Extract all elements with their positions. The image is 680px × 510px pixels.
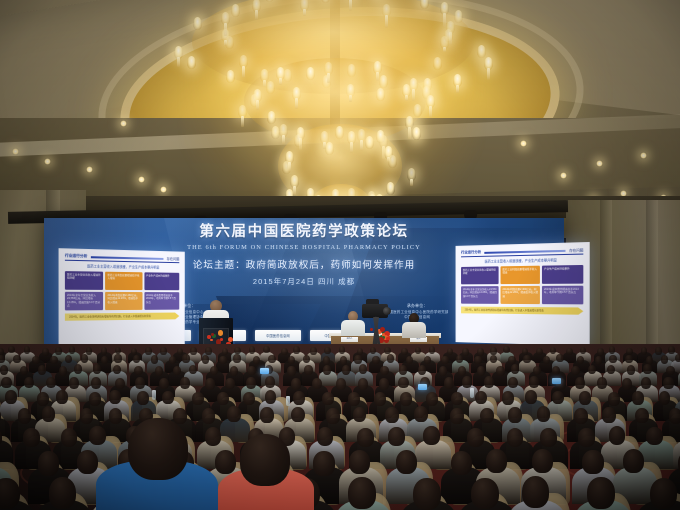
audience-member-head — [387, 354, 394, 362]
audience-member-head — [55, 347, 61, 354]
flower-petal — [210, 339, 213, 342]
audience-member-head — [91, 377, 101, 389]
audience-member-head — [571, 366, 579, 375]
panelist-namecard: 主持人 — [341, 337, 358, 342]
backdrop-title-cn: 第六届中国医院药学政策论坛 — [44, 224, 564, 241]
slide-header-bar — [90, 256, 163, 260]
audience-member-head — [385, 407, 399, 423]
audience-member-head — [471, 478, 499, 510]
water-bottle — [470, 388, 474, 398]
audience-member-head — [151, 355, 158, 363]
sponsor-logo: 中国医药信息网 — [255, 330, 301, 341]
audience-member-head — [609, 346, 615, 353]
audience-member-head — [354, 355, 361, 363]
audience-member-head — [42, 406, 56, 422]
audience-member-head — [597, 348, 603, 355]
audience-member-head — [423, 426, 440, 445]
audience-member-head — [552, 366, 560, 375]
slide-header: 行业运行分析 存在问题 — [65, 254, 179, 264]
audience-member-head — [414, 406, 428, 422]
slide-grid: 医药工业主营业务收入增速持续放缓 医药工业利润总额增速低于收入增速 产业生产成本… — [461, 265, 583, 304]
audience-member-head — [322, 392, 334, 406]
audience-member-head — [310, 347, 316, 354]
audience-member-head — [474, 356, 481, 364]
audience-member-head — [131, 348, 137, 355]
audience-member-head — [113, 365, 121, 374]
audience-member-head — [233, 354, 240, 362]
downlight-icon — [160, 186, 167, 193]
audience-member-head — [578, 428, 595, 447]
audience-member-head — [623, 449, 644, 473]
audience-member-head — [490, 347, 496, 354]
audience-member-head — [109, 390, 121, 404]
slide-cell: 医药工业利润总额增速低于收入增速 — [105, 272, 142, 290]
audience-member-head — [632, 391, 644, 405]
audience-member-head — [608, 392, 620, 406]
audience-member-head — [230, 366, 238, 375]
downlight-icon — [120, 120, 127, 127]
audience-member-head — [529, 376, 539, 388]
audience-member-head — [508, 377, 518, 389]
slide-cell: 医药工业利润总额增速低于收入增速 — [501, 266, 540, 284]
audience-member-head — [8, 346, 14, 353]
audience-member-head — [566, 348, 572, 355]
audience-member-head — [444, 377, 454, 389]
audience-member-head — [202, 408, 216, 424]
audience-member-head — [260, 407, 274, 423]
audience-member-head — [609, 355, 616, 363]
audience-member-head — [458, 366, 466, 375]
audience-member-head — [293, 391, 305, 405]
audience-member-head — [357, 428, 374, 447]
audience-member-head — [582, 450, 603, 474]
audience-member-head — [669, 408, 680, 424]
flower-petal — [207, 335, 211, 339]
audience-member-head — [205, 378, 215, 390]
audience-member-head — [477, 366, 485, 375]
audience-member-head — [13, 355, 20, 363]
audience-member-head — [388, 427, 405, 446]
audience-member-head — [627, 365, 635, 374]
audience-member-head — [439, 366, 447, 375]
slide-cell: 产业生产成本持续攀升 — [144, 272, 179, 290]
audience-member-head — [59, 366, 67, 375]
audience-member-head — [650, 478, 678, 510]
audience-member-head — [293, 346, 299, 353]
audience-member-head — [556, 354, 563, 362]
audience-member-head — [253, 356, 260, 364]
downlight-icon — [44, 158, 51, 165]
audience-member-head — [219, 356, 226, 364]
audience-member-head — [597, 377, 607, 389]
audience — [0, 344, 680, 510]
audience-member-head — [20, 366, 28, 375]
audience-member-head — [304, 365, 312, 374]
audience-member-head — [210, 366, 218, 375]
audience-member-head — [646, 427, 663, 446]
audience-member-head — [317, 427, 334, 446]
audience-member-head — [607, 365, 615, 374]
slide-content: 行业运行分析 存在问题 医药工业主营收入增速放缓，产业生产成本攀升明显 医药工业… — [60, 249, 184, 347]
audience-member-head — [418, 365, 426, 374]
audience-member-head — [69, 377, 79, 389]
audience-member-head — [477, 348, 483, 355]
audience-member-head — [291, 407, 305, 423]
audience-member-head — [291, 378, 301, 390]
audience-member-head — [69, 346, 75, 353]
audience-member-head — [81, 354, 88, 362]
audience-member-head — [0, 365, 8, 374]
audience-member-head — [134, 366, 142, 375]
audience-member-head — [398, 377, 408, 389]
audience-member-head — [155, 366, 163, 375]
slide-banner: 2014年，医药工业各项经济指标增速均有所回落，行业进入中低速增长新常态 — [65, 313, 179, 321]
audience-member-head — [342, 365, 350, 374]
attendee-phone-screen — [418, 384, 427, 390]
audience-member-head — [189, 365, 197, 374]
audience-member-head — [663, 377, 673, 389]
audience-member-head — [38, 451, 59, 475]
audience-member-head — [349, 450, 370, 474]
audience-member-head — [602, 407, 616, 423]
audience-member-head — [379, 378, 389, 390]
audience-member-head — [303, 355, 310, 363]
audience-member-head — [523, 355, 530, 363]
audience-member-head — [247, 366, 255, 375]
audience-member-head — [462, 376, 472, 388]
attendee-phone-screen — [552, 378, 561, 384]
audience-member-head — [588, 365, 596, 374]
audience-member-head — [401, 348, 407, 355]
downlight-icon — [138, 176, 145, 183]
slide-cell: 2014年利润总额2,460亿元，同比增长12.26%，增速低于收入增速 — [105, 292, 142, 310]
audience-member-head — [89, 426, 106, 445]
audience-member-head — [595, 356, 602, 364]
audience-member-head — [358, 378, 368, 390]
audience-member-head — [37, 392, 49, 406]
audience-member-head — [173, 366, 181, 375]
audience-member-head — [169, 356, 176, 364]
audience-member-head — [359, 364, 367, 373]
audience-member-head — [74, 364, 82, 373]
audience-member-head — [540, 428, 557, 447]
audience-member-head — [128, 418, 188, 480]
panelist-right — [402, 313, 426, 337]
audience-member-head — [5, 390, 17, 404]
water-bottle — [286, 396, 290, 406]
slide-cell: 医药工业主营业务收入增速持续放缓 — [65, 271, 103, 290]
audience-member-head — [339, 346, 345, 353]
audience-member-head — [490, 355, 497, 363]
camera-lens-icon — [383, 307, 391, 315]
audience-member-head — [415, 347, 421, 354]
audience-member-head — [24, 346, 30, 353]
audience-member-head — [451, 392, 463, 406]
panelist-body — [341, 320, 365, 336]
audience-member-head — [46, 377, 56, 389]
audience-member-head — [162, 391, 174, 405]
audience-member-head — [447, 348, 453, 355]
audience-member-head — [675, 354, 680, 362]
audience-member-head — [496, 366, 504, 375]
audience-member-head — [114, 354, 121, 362]
slide-banner: 2014年，医药工业各项经济指标增速均有所回落，行业进入中低速增长新常态 — [461, 307, 583, 315]
audience-member-head — [503, 346, 509, 353]
slide-cell: 2014年全年主营业务收入24,553亿元，同比增长13.05%，增速回落3.0… — [461, 286, 499, 304]
audience-member-head — [507, 428, 524, 447]
audience-member-head — [348, 392, 360, 406]
audience-member-head — [326, 408, 340, 424]
audience-member-head — [323, 365, 331, 374]
slide-cell: 医药工业主营业务收入增速持续放缓 — [461, 266, 499, 284]
audience-member-head — [659, 391, 671, 405]
audience-member-head — [462, 348, 468, 355]
audience-member-head — [441, 356, 448, 364]
slide-cell: 2014年利润总额2,460亿元，同比增长12.26%，增速低于收入增速 — [501, 286, 540, 304]
audience-member-head — [580, 347, 586, 354]
audience-member-head — [641, 347, 647, 354]
audience-member-head — [508, 356, 515, 364]
audience-member-head — [225, 378, 235, 390]
audience-member-head — [205, 427, 222, 446]
audience-member-head — [429, 346, 435, 353]
audience-member-head — [56, 390, 68, 404]
slide-header-tag: 行业运行分析 — [461, 250, 481, 255]
audience-member-head — [240, 434, 290, 486]
audience-member-head — [192, 392, 204, 406]
audience-member-head — [475, 391, 487, 405]
audience-member-head — [215, 450, 236, 474]
audience-member-head — [575, 377, 585, 389]
audience-member-head — [0, 478, 20, 510]
audience-member-head — [145, 347, 151, 354]
audience-member-head — [579, 391, 591, 405]
flower-petal — [370, 328, 373, 331]
audience-member-head — [372, 356, 379, 364]
slide-cell: 2014年全年主营业务收入24,553亿元，同比增长13.05%，增速回落3.0… — [65, 292, 103, 311]
audience-member-head — [324, 347, 330, 354]
slide-subtitle: 医药工业主营收入增速放缓，产业生产成本攀升明显 — [461, 257, 583, 264]
slide-header: 行业运行分析 存在问题 — [461, 247, 583, 257]
audience-member-head — [288, 356, 295, 364]
audience-member-head — [18, 408, 32, 424]
audience-member-head — [32, 356, 39, 364]
audience-member-head — [80, 408, 94, 424]
audience-member-head — [668, 346, 674, 353]
audience-member-head — [574, 408, 588, 424]
audience-member-head — [287, 366, 295, 375]
audience-member-head — [336, 378, 346, 390]
audience-member-head — [160, 347, 166, 354]
audience-member-head — [406, 356, 413, 364]
audience-member-head — [655, 347, 661, 354]
audience-member-head — [533, 366, 541, 375]
audience-member-head — [400, 392, 412, 406]
slide-content: 行业运行分析 存在问题 医药工业主营收入增速放缓，产业生产成本攀升明显 医药工业… — [456, 243, 588, 345]
downlight-icon — [520, 140, 527, 147]
audience-member-head — [348, 477, 376, 509]
slide-header-right: 存在问题 — [167, 256, 180, 261]
audience-member-head — [384, 347, 390, 354]
flower-petal — [386, 337, 389, 340]
audience-member-head — [246, 377, 256, 389]
audience-member-head — [50, 356, 57, 364]
audience-member-head — [101, 356, 108, 364]
audience-member-head — [227, 406, 241, 422]
downlight-icon — [86, 166, 93, 173]
flower-petal — [228, 337, 233, 342]
audience-member-head — [101, 347, 107, 354]
audience-member-head — [1, 377, 11, 389]
audience-member-head — [23, 428, 40, 447]
audience-member-head — [532, 449, 553, 473]
attendee-phone-screen — [260, 368, 269, 374]
audience-member-head — [312, 378, 322, 390]
audience-member-head — [93, 364, 101, 373]
audience-member-head — [109, 408, 123, 424]
audience-member-head — [182, 354, 189, 362]
audience-member-head — [49, 477, 77, 509]
slide-header-tag: 行业运行分析 — [65, 254, 87, 260]
slide-cell: 2014年成本费用增速高于2013年，毛利率下降0.5个百分点 — [144, 292, 179, 310]
downlight-icon — [640, 152, 647, 159]
audience-member-head — [268, 355, 275, 363]
flower-petal — [218, 330, 223, 335]
audience-member-head — [635, 408, 649, 424]
slide-cell: 2014年成本费用增速高于2013年，毛利率下降0.5个百分点 — [542, 286, 583, 305]
slide-header-bar — [484, 249, 566, 253]
audience-member-head — [537, 406, 551, 422]
audience-member-head — [511, 364, 519, 373]
audience-member-head — [399, 365, 407, 374]
audience-member-head — [24, 377, 34, 389]
audience-member-head — [502, 391, 514, 405]
audience-member-head — [666, 366, 674, 375]
audience-member-head — [265, 390, 277, 404]
audience-member-head — [396, 450, 417, 474]
conference-hall-photo: 第六届中国医院药学政策论坛 THE 6th FORUM ON CHINESE H… — [0, 0, 680, 510]
audience-member-head — [480, 408, 494, 424]
audience-member-head — [135, 377, 145, 389]
audience-member-head — [380, 366, 388, 375]
audience-member-head — [536, 348, 542, 355]
audience-member-head — [661, 355, 668, 363]
audience-member-head — [281, 348, 287, 355]
audience-member-head — [525, 390, 537, 404]
audience-member-head — [205, 347, 211, 354]
audience-member-head — [89, 392, 101, 406]
audience-member-head — [180, 377, 190, 389]
audience-member-head — [217, 392, 229, 406]
slide-header-right: 存在问题 — [569, 247, 583, 253]
audience-member-head — [263, 346, 269, 353]
right-projection-screen: 行业运行分析 存在问题 医药工业主营收入增速放缓，产业生产成本攀升明显 医药工业… — [456, 242, 590, 346]
audience-member-head — [451, 451, 472, 475]
audience-member-head — [340, 356, 347, 364]
audience-member-head — [173, 408, 187, 424]
audience-member-head — [424, 356, 431, 364]
audience-member-head — [486, 449, 507, 473]
downlight-icon — [596, 160, 603, 167]
slide-cell: 产业生产成本持续攀升 — [542, 265, 583, 284]
audience-member-head — [643, 364, 651, 373]
audience-member-head — [374, 392, 386, 406]
audience-member-head — [222, 348, 228, 355]
audience-member-head — [159, 378, 169, 390]
audience-member-head — [625, 355, 632, 363]
audience-member-head — [323, 356, 330, 364]
audience-member-head — [42, 348, 48, 355]
audience-member-head — [86, 347, 92, 354]
audience-member-head — [467, 428, 484, 447]
audience-member-head — [587, 477, 615, 509]
audience-member-head — [508, 407, 522, 423]
audience-member-head — [522, 476, 550, 508]
audience-member-head — [234, 347, 240, 354]
audience-member-head — [450, 408, 464, 424]
downlight-icon — [12, 148, 19, 155]
audience-member-head — [413, 478, 441, 510]
audience-member-head — [265, 376, 275, 388]
audience-member-head — [61, 428, 78, 447]
panelist-body — [402, 322, 426, 338]
flower-petal — [220, 338, 223, 341]
water-bottle — [152, 390, 156, 400]
audience-member-head — [137, 391, 149, 405]
slide-subtitle: 医药工业主营收入增速放缓，产业生产成本攀升明显 — [65, 263, 179, 270]
audience-member-head — [77, 450, 98, 474]
audience-member-head — [622, 378, 632, 390]
audience-member-head — [609, 426, 626, 445]
downlight-icon — [560, 172, 567, 179]
audience-member-head — [115, 378, 125, 390]
audience-member-head — [426, 392, 438, 406]
audience-member-head — [190, 347, 196, 354]
audience-member-head — [202, 355, 209, 363]
audience-member-head — [249, 346, 255, 353]
audience-member-head — [641, 377, 651, 389]
audience-member-head — [38, 365, 46, 374]
audience-member-head — [243, 392, 255, 406]
audience-member-head — [313, 451, 334, 475]
audience-member-head — [484, 376, 494, 388]
slide-grid: 医药工业主营业务收入增速持续放缓 医药工业利润总额增速低于收入增速 产业生产成本… — [65, 271, 179, 310]
left-projection-screen: 行业运行分析 存在问题 医药工业主营收入增速放缓，产业生产成本攀升明显 医药工业… — [59, 248, 185, 348]
